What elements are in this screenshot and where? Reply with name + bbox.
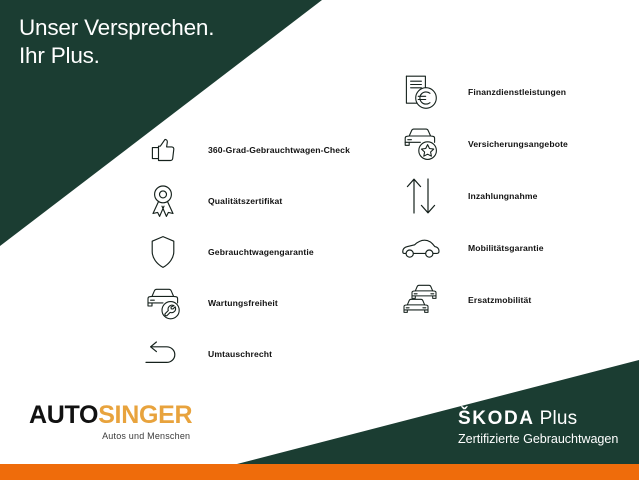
page-title: Unser Versprechen. Ihr Plus. (19, 14, 214, 70)
skoda-brand-name: ŠKODA (458, 408, 535, 429)
feature-label: Finanzdienstleistungen (468, 87, 566, 97)
feature-item-quality-certificate: Qualitätszertifikat (140, 175, 350, 226)
u-turn-arrow-icon (140, 331, 186, 377)
dealer-name-part2: SINGER (98, 401, 192, 429)
dealer-tagline: Autos und Menschen (29, 431, 192, 441)
car-side-icon (398, 225, 444, 271)
dealer-wordmark: AUTOSINGER (29, 402, 192, 428)
feature-item-insurance: Versicherungsangebote (398, 118, 568, 170)
feature-item-360-check: 360-Grad-Gebrauchtwagen-Check (140, 124, 350, 175)
skoda-plus-logo: ŠKODAPlus Zertifizierte Gebrauchtwagen (458, 408, 618, 447)
feature-item-replacement-mobility: Ersatzmobilität (398, 274, 568, 326)
feature-item-financial-services: Finanzdienstleistungen (398, 66, 568, 118)
car-wrench-icon (140, 280, 186, 326)
headline-line-2: Ihr Plus. (19, 42, 214, 70)
two-cars-icon (398, 277, 444, 323)
feature-label: Gebrauchtwagengarantie (208, 247, 314, 257)
feature-list-right: Finanzdienstleistungen Versicherungsange… (398, 66, 568, 326)
feature-item-mobility-guarantee: Mobilitätsgarantie (398, 222, 568, 274)
car-star-icon (398, 121, 444, 167)
feature-item-maintenance-free: Wartungsfreiheit (140, 277, 350, 328)
feature-list-left: 360-Grad-Gebrauchtwagen-Check Qualitätsz… (140, 124, 350, 379)
feature-label: Wartungsfreiheit (208, 298, 278, 308)
feature-label: Ersatzmobilität (468, 295, 531, 305)
feature-item-return-right: Umtauschrecht (140, 328, 350, 379)
feature-label: Umtauschrecht (208, 349, 272, 359)
shield-icon (140, 229, 186, 275)
skoda-brand-line: ŠKODAPlus (458, 408, 618, 430)
orange-footer-bar (0, 464, 639, 480)
document-euro-icon (398, 69, 444, 115)
feature-item-warranty: Gebrauchtwagengarantie (140, 226, 350, 277)
dealer-logo: AUTOSINGER Autos und Menschen (29, 402, 192, 441)
feature-label: Inzahlungnahme (468, 191, 537, 201)
feature-item-trade-in: Inzahlungnahme (398, 170, 568, 222)
thumbs-up-icon (140, 127, 186, 173)
dealer-name-part1: AUTO (29, 401, 98, 429)
feature-label: Mobilitätsgarantie (468, 243, 544, 253)
rosette-award-icon (140, 178, 186, 224)
feature-label: 360-Grad-Gebrauchtwagen-Check (208, 145, 350, 155)
feature-label: Versicherungsangebote (468, 139, 568, 149)
headline-line-1: Unser Versprechen. (19, 14, 214, 42)
up-down-arrows-icon (398, 173, 444, 219)
promo-banner: Unser Versprechen. Ihr Plus. 360-Grad-Ge… (0, 0, 639, 480)
skoda-brand-suffix: Plus (540, 408, 578, 429)
feature-label: Qualitätszertifikat (208, 196, 282, 206)
skoda-subtitle: Zertifizierte Gebrauchtwagen (458, 431, 618, 447)
